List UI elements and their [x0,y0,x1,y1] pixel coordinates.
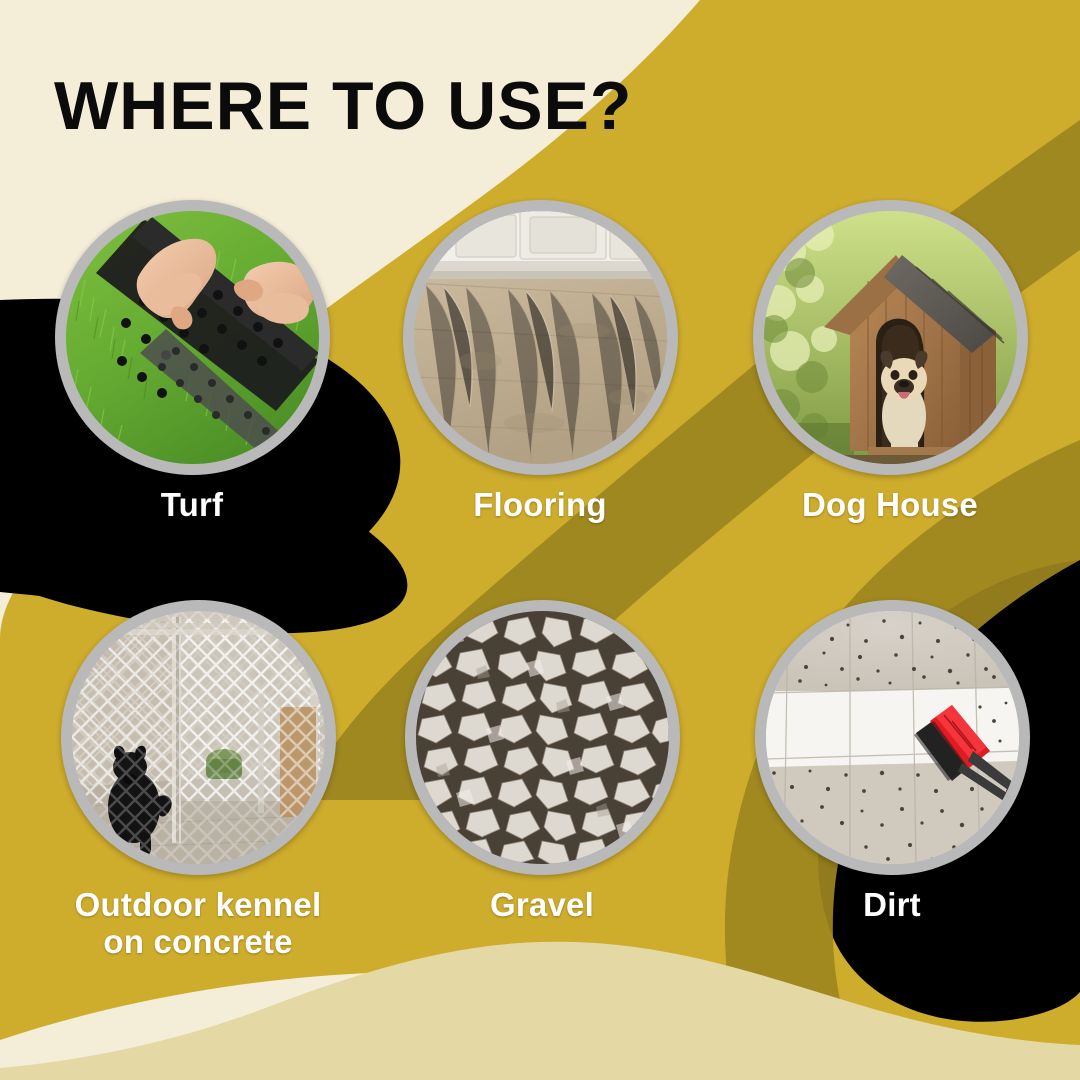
use-case-item-dirt[interactable]: Dirt [752,600,1032,924]
circle-image-doghouse [764,211,1017,464]
circle-image-kennel [72,611,325,864]
use-case-item-turf[interactable]: Turf [52,200,332,524]
use-case-item-gravel[interactable]: Gravel [402,600,682,924]
circle-image-turf [66,211,319,464]
wood-laminate-flooring-photo [414,211,667,464]
page-title: WHERE TO USE? [54,72,632,140]
pug-dog-graphic [880,351,927,453]
item-label-flooring: Flooring [400,487,680,524]
pug-in-wooden-dog-house-photo [764,211,1017,464]
circle-image-flooring [414,211,667,464]
infographic-canvas: WHERE TO USE? [0,0,1080,1080]
item-label-kennel-line1: Outdoor kennel [75,886,322,923]
circle-frame-flooring [403,200,678,475]
circle-frame-doghouse [753,200,1028,475]
red-broom-sweeping-dirt-on-tile-photo [766,611,1019,864]
white-crushed-gravel-stones-photo [416,611,669,864]
circle-frame-kennel [61,600,336,875]
artificial-turf-underlay-photo [66,211,319,464]
circle-image-gravel [416,611,669,864]
circle-image-dirt [766,611,1019,864]
circle-frame-turf [55,200,330,475]
item-label-doghouse: Dog House [750,487,1030,524]
use-case-item-doghouse[interactable]: Dog House [750,200,1030,524]
use-case-item-flooring[interactable]: Flooring [400,200,680,524]
circle-frame-gravel [405,600,680,875]
item-label-gravel: Gravel [402,887,682,924]
item-label-dirt: Dirt [752,887,1032,924]
item-label-kennel: Outdoor kennel on concrete [58,887,338,961]
item-label-kennel-line2: on concrete [103,923,292,960]
chain-link-kennel-with-black-dog-photo [72,611,325,864]
item-label-turf: Turf [52,487,332,524]
circle-frame-dirt [755,600,1030,875]
use-case-item-kennel[interactable]: Outdoor kennel on concrete [58,600,338,961]
